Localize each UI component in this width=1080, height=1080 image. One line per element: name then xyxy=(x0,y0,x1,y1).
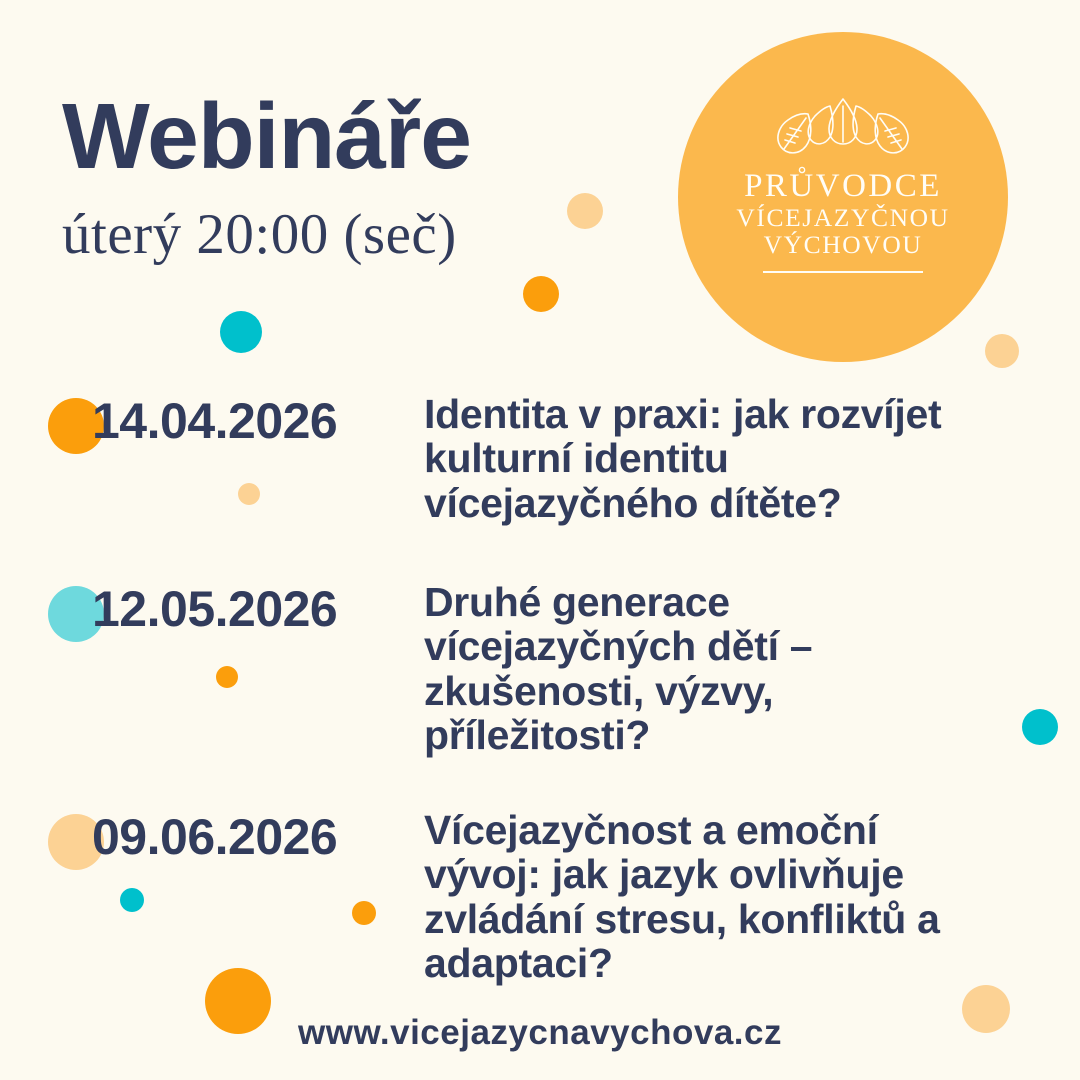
logo-line-1: PRŮVODCE xyxy=(736,170,949,204)
dot-teal-left-upper xyxy=(220,311,262,353)
schedule-date-1: 14.04.2026 xyxy=(92,392,424,450)
page-title: Webináře xyxy=(62,83,471,190)
poster-canvas: PRŮVODCE VÍCEJAZYČNOU VÝCHOVOU Webináře … xyxy=(0,0,1080,1080)
website-url[interactable]: www.vicejazycnavychova.cz xyxy=(0,1013,1080,1053)
schedule-topic-2: Druhé generace vícejazyčných dětí – zkuš… xyxy=(424,580,964,757)
schedule-topic-1: Identita v praxi: jak rozvíjet kulturní … xyxy=(424,392,964,525)
logo-wordmark: PRŮVODCE VÍCEJAZYČNOU VÝCHOVOU xyxy=(736,170,949,258)
logo-divider-rule xyxy=(763,271,923,273)
schedule-row: 09.06.2026 Vícejazyčnost a emoční vývoj:… xyxy=(48,808,964,985)
logo-line-3: VÝCHOVOU xyxy=(736,232,949,258)
leaf-arch-ornament xyxy=(768,96,918,158)
dot-peach-top xyxy=(567,193,603,229)
dot-peach-right-edge xyxy=(985,334,1019,368)
schedule-topic-3: Vícejazyčnost a emoční vývoj: jak jazyk … xyxy=(424,808,964,985)
logo-line-2: VÍCEJAZYČNOU xyxy=(736,205,949,231)
schedule-row: 12.05.2026 Druhé generace vícejazyčných … xyxy=(48,580,964,757)
brand-logo-badge: PRŮVODCE VÍCEJAZYČNOU VÝCHOVOU xyxy=(678,32,1008,362)
dot-orange-upper xyxy=(523,276,559,312)
page-subtitle: úterý 20:00 (seč) xyxy=(62,202,457,267)
schedule-date-3: 09.06.2026 xyxy=(92,808,424,866)
schedule-row: 14.04.2026 Identita v praxi: jak rozvíje… xyxy=(48,392,964,525)
dot-teal-right-mid xyxy=(1022,709,1058,745)
schedule-date-2: 12.05.2026 xyxy=(92,580,424,638)
